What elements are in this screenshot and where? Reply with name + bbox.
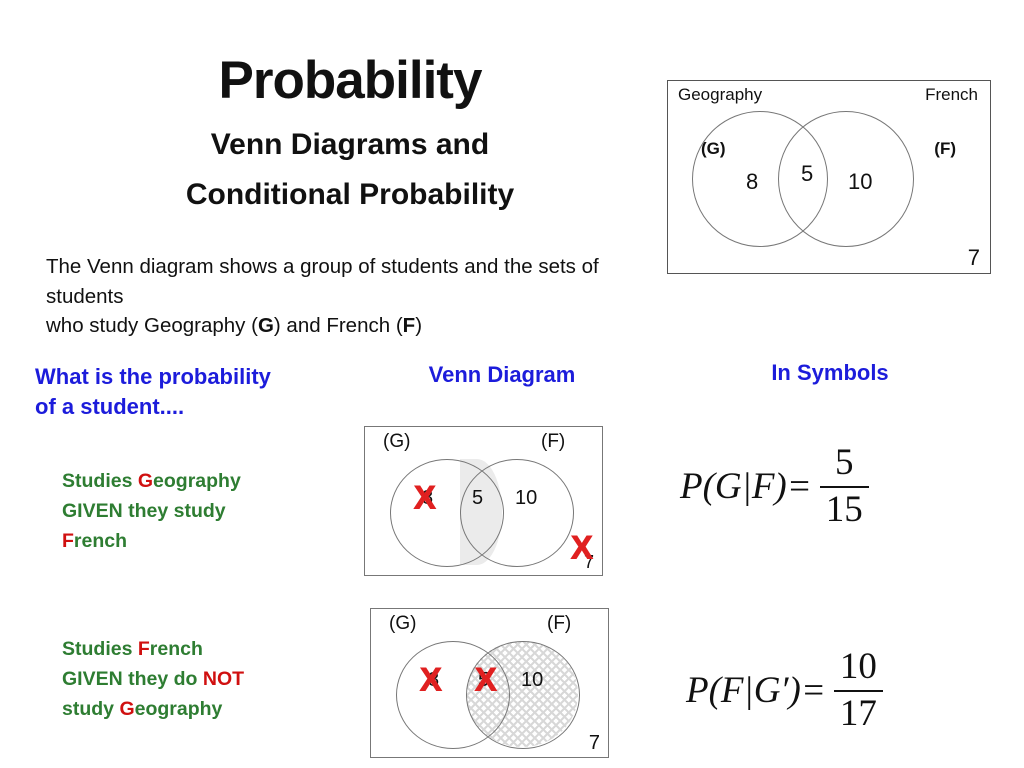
venn1-circle-french: [460, 459, 574, 567]
formula-row-1: P(G|F)= 5 15: [680, 444, 869, 530]
formula-row-2: P(F|G′)= 10 17: [686, 648, 883, 734]
column-heading-question: What is the probability of a student....: [35, 362, 335, 421]
q2-line3-b: G: [119, 698, 134, 720]
venn2-cross-both: X: [474, 663, 497, 697]
question-row-1: Studies Geography GIVEN they study Frenc…: [62, 466, 352, 557]
page-subtitle-2: Conditional Probability: [0, 178, 700, 212]
top-venn-value-only-french: 10: [848, 169, 872, 195]
venn2-value-neither: 7: [589, 732, 600, 755]
intro-line-1: The Venn diagram shows a group of studen…: [46, 255, 599, 308]
venn2-value-only-french: 10: [521, 669, 543, 692]
column-heading-symbols: In Symbols: [680, 360, 980, 386]
page-title: Probability: [0, 50, 700, 111]
formula-2-fraction: 10 17: [834, 648, 883, 734]
top-venn-value-both: 5: [801, 161, 813, 187]
formula-1-fraction: 5 15: [820, 444, 869, 530]
formula-2-expression: P(F|G′)=: [686, 669, 826, 712]
top-venn-f-tag: (F): [934, 139, 956, 159]
venn2-f-tag: (F): [547, 613, 571, 635]
venn1-g-tag: (G): [383, 431, 410, 453]
intro-set-f: F: [403, 314, 416, 337]
top-venn-french-label: French: [925, 85, 978, 105]
venn-diagram-row-2: (G) (F) 8 5 10 7 X X: [370, 608, 609, 758]
q2-line2-b: they do: [123, 668, 203, 690]
q1-line3-a: F: [62, 530, 74, 552]
q1-line2-b: they study: [123, 500, 226, 522]
intro-line-2-mid: ) and French (: [274, 314, 403, 337]
formula-2-fraction-bar: [834, 690, 883, 692]
q2-line1-b: F: [138, 638, 150, 660]
top-venn-value-neither: 7: [968, 245, 980, 271]
top-venn-circle-french: [778, 111, 914, 247]
q1-line1-b: G: [138, 470, 153, 492]
q1-line1-c: eography: [153, 470, 241, 492]
top-venn-diagram: Geography French (G) (F) 8 5 10 7: [667, 80, 991, 274]
venn1-cross-neither: X: [570, 531, 593, 565]
column-heading-venn: Venn Diagram: [362, 362, 642, 388]
q2-line1-c: rench: [150, 638, 203, 660]
venn2-g-tag: (G): [389, 613, 416, 635]
formula-2-numerator: 10: [834, 648, 883, 687]
venn1-cross-only-geography: X: [413, 481, 436, 515]
top-venn-value-only-geography: 8: [746, 169, 758, 195]
intro-set-g: G: [258, 314, 274, 337]
venn-diagram-row-1: (G) (F) 8 5 10 7 X X: [364, 426, 603, 576]
column-heading-question-line-1: What is the probability: [35, 364, 271, 389]
q1-line2-a: GIVEN: [62, 500, 123, 522]
page-subtitle-1: Venn Diagrams and: [0, 128, 700, 162]
intro-line-2-post: ): [415, 314, 422, 337]
q2-line2-c: NOT: [203, 668, 244, 690]
q2-line2-a: GIVEN: [62, 668, 123, 690]
formula-1-expression: P(G|F)=: [680, 465, 812, 508]
venn1-value-both: 5: [472, 487, 483, 510]
intro-line-2-pre: who study Geography (: [46, 314, 258, 337]
q2-line3-a: study: [62, 698, 119, 720]
venn2-cross-only-geography: X: [419, 663, 442, 697]
top-venn-g-tag: (G): [701, 139, 726, 159]
q1-line3-b: rench: [74, 530, 127, 552]
venn1-value-only-french: 10: [515, 487, 537, 510]
formula-1-numerator: 5: [829, 444, 860, 483]
q1-line1-a: Studies: [62, 470, 138, 492]
venn1-f-tag: (F): [541, 431, 565, 453]
q2-line1-a: Studies: [62, 638, 138, 660]
top-venn-geography-label: Geography: [678, 85, 762, 105]
column-heading-question-line-2: of a student....: [35, 394, 184, 419]
question-row-2: Studies French GIVEN they do NOT study G…: [62, 634, 352, 725]
intro-paragraph: The Venn diagram shows a group of studen…: [46, 252, 646, 341]
formula-1-fraction-bar: [820, 486, 869, 488]
formula-1-denominator: 15: [820, 491, 869, 530]
q2-line3-c: eography: [135, 698, 223, 720]
formula-2-denominator: 17: [834, 695, 883, 734]
